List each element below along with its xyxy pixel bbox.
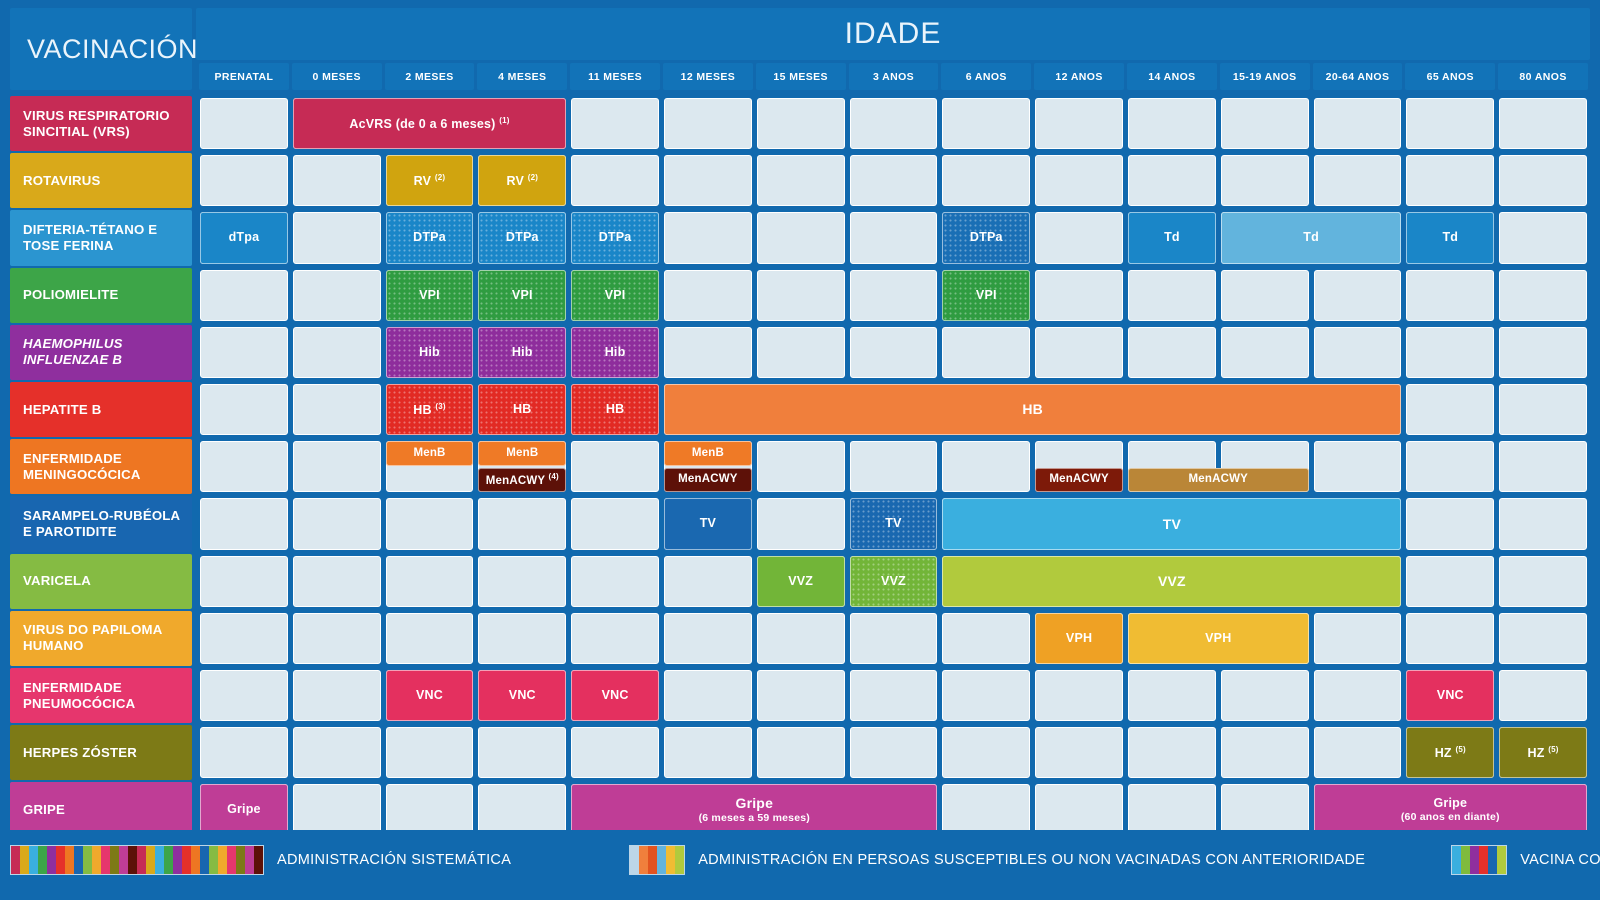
vaccine-block-gripe[interactable]: Gripe [200,784,288,835]
vaccine-block-label: HB [513,402,531,417]
footnote-marker: (5) [1455,745,1465,754]
vaccine-block-rv[interactable]: RV (2) [386,155,474,206]
grid-cell[interactable] [850,670,938,721]
vaccine-block-vnc[interactable]: VNC [1406,670,1494,721]
grid-cell[interactable] [1035,784,1123,835]
vaccine-block-menacwy[interactable]: MenACWY [1035,468,1123,493]
grid-cell[interactable] [850,270,938,321]
vaccine-block-label: HB [606,402,624,417]
footnote-marker: (4) [548,472,558,481]
vaccine-block-acvrs-de-0-a-6-meses-[interactable]: AcVRS (de 0 a 6 meses) (1) [293,98,566,149]
grid-cell[interactable] [664,212,752,263]
vaccine-block-label: DTPa [413,230,446,245]
grid-cell[interactable] [942,327,1030,378]
age-title: IDADE [196,8,1590,60]
legend-item-0: ADMINISTRACIÓN SISTEMÁTICA [10,845,511,875]
column-header-11[interactable]: 15-19 ANOS [1220,63,1310,90]
vaccine-block-label: TV [885,516,901,531]
grid-cell[interactable] [1314,98,1402,149]
schedule-grid: VACINACIÓN IDADE PRENATAL0 MESES2 MESES4… [10,8,1590,820]
vaccine-block-hib[interactable]: Hib [478,327,566,378]
vaccine-block-tv[interactable]: TV [850,498,938,549]
vaccine-block-gripe[interactable]: Gripe(60 anos en diante) [1314,784,1587,835]
grid-cell[interactable] [664,155,752,206]
grid-cell[interactable] [757,613,845,664]
grid-cell[interactable] [1314,441,1402,492]
grid-cell[interactable] [850,327,938,378]
grid-cell[interactable] [1406,155,1494,206]
row-label-4[interactable]: HAEMOPHILUS INFLUENZAE B [10,325,192,380]
grid-cell[interactable] [942,613,1030,664]
grid-cell[interactable] [1499,155,1587,206]
vaccine-block-label: MenB [692,447,724,461]
grid-cell[interactable] [200,270,288,321]
vaccine-block-label: HB (3) [413,402,446,418]
vaccine-block-label: AcVRS (de 0 a 6 meses) (1) [349,116,509,132]
vaccine-block-label: Gripe [227,802,261,817]
grid-cell[interactable] [942,441,1030,492]
grid-cell[interactable] [1499,556,1587,607]
grid-cell[interactable] [386,784,474,835]
grid-cell[interactable] [386,613,474,664]
vaccine-block-menacwy[interactable]: MenACWY [1128,468,1309,493]
grid-cell[interactable] [850,98,938,149]
vaccine-block-label: HZ (5) [1435,745,1466,761]
grid-cell[interactable] [1128,727,1216,778]
grid-cell[interactable] [1406,556,1494,607]
grid-cell[interactable] [1035,270,1123,321]
column-header-3[interactable]: 4 MESES [477,63,567,90]
grid-cell[interactable] [664,670,752,721]
grid-cell[interactable] [850,212,938,263]
vaccine-block-label: VPI [419,288,440,303]
grid-cell[interactable] [200,327,288,378]
vaccine-block-label: DTPa [970,230,1003,245]
column-header-2[interactable]: 2 MESES [385,63,475,90]
grid-cell[interactable] [571,727,659,778]
vaccine-block-label: TV [1163,516,1181,533]
grid-cell[interactable] [664,327,752,378]
vaccine-block-hib[interactable]: Hib [386,327,474,378]
footnote-marker: (5) [1548,745,1558,754]
grid-cell[interactable] [200,98,288,149]
vaccine-block-vph[interactable]: VPH [1128,613,1309,664]
grid-cell[interactable] [757,155,845,206]
vaccine-block-label: MenB [413,447,445,461]
legend: ADMINISTRACIÓN SISTEMÁTICAADMINISTRACIÓN… [10,830,1590,890]
column-header-1[interactable]: 0 MESES [292,63,382,90]
grid-cell[interactable] [1406,98,1494,149]
grid-cell[interactable] [200,441,288,492]
grid-cell[interactable] [293,613,381,664]
grid-cell[interactable] [293,498,381,549]
grid-cell[interactable] [757,670,845,721]
vaccine-block-dtpa[interactable]: DTPa [571,212,659,263]
grid-cell[interactable] [664,727,752,778]
grid-cell[interactable] [1221,327,1309,378]
susceptible-swatch [629,845,685,875]
grid-cell[interactable] [1035,670,1123,721]
vaccine-block-menb[interactable]: MenB [664,441,752,466]
vaccine-block-vpi[interactable]: VPI [942,270,1030,321]
vaccine-block-label: Hib [419,345,440,360]
grid-cell[interactable] [1221,784,1309,835]
vaccine-block-hz[interactable]: HZ (5) [1406,727,1494,778]
vaccine-block-subtext: (6 meses a 59 meses) [699,812,810,825]
column-header-13[interactable]: 65 ANOS [1405,63,1495,90]
grid-cell[interactable] [1406,441,1494,492]
vaccine-block-label: MenACWY [1189,473,1249,487]
vaccine-block-menacwy[interactable]: MenACWY [664,468,752,493]
grid-cell[interactable] [1499,212,1587,263]
grid-cell[interactable] [478,784,566,835]
vaccine-block-label: dTpa [229,230,260,245]
grid-cell[interactable] [200,556,288,607]
vaccine-block-label: VPI [976,288,997,303]
grid-cell[interactable] [1314,613,1402,664]
column-header-5[interactable]: 12 MESES [663,63,753,90]
column-header-10[interactable]: 14 ANOS [1127,63,1217,90]
vaccine-block-label: Hib [605,345,626,360]
grid-cell[interactable] [1035,155,1123,206]
footnote-marker: (2) [435,173,445,182]
vaccine-block-label: VVZ [881,574,906,589]
column-header-7[interactable]: 3 ANOS [849,63,939,90]
grid-cell[interactable] [942,155,1030,206]
grid-cell[interactable] [1499,270,1587,321]
vaccine-block-vnc[interactable]: VNC [478,670,566,721]
grid-cell[interactable] [1499,441,1587,492]
grid-cell[interactable] [1221,270,1309,321]
column-header-14[interactable]: 80 ANOS [1498,63,1588,90]
grid-cell[interactable] [1035,98,1123,149]
grid-cell[interactable] [1035,212,1123,263]
vaccine-block-vvz[interactable]: VVZ [942,556,1401,607]
legend-label: ADMINISTRACIÓN EN PERSOAS SUSCEPTIBLES O… [698,852,1365,868]
systematic-swatch [10,845,264,875]
grid-cell[interactable] [571,155,659,206]
vaccine-block-label: MenACWY [678,473,738,487]
vaccine-block-tv[interactable]: TV [664,498,752,549]
grid-cell[interactable] [293,155,381,206]
vaccine-block-hz[interactable]: HZ (5) [1499,727,1587,778]
row-label-8[interactable]: VARICELA [10,554,192,609]
grid-cell[interactable] [942,98,1030,149]
vaccine-block-label: Td [1303,230,1319,245]
vaccine-block-hb[interactable]: HB [478,384,566,435]
vaccine-block-tv[interactable]: TV [942,498,1401,549]
combined-swatch [1451,845,1507,875]
grid-cell[interactable] [757,327,845,378]
vaccine-block-label: HB [1022,401,1043,418]
vaccine-block-label: MenACWY (4) [486,472,559,489]
vaccine-block-label: DTPa [506,230,539,245]
vaccination-schedule-board: VACINACIÓN IDADE PRENATAL0 MESES2 MESES4… [0,0,1600,900]
vaccine-block-td[interactable]: Td [1406,212,1494,263]
column-header-4[interactable]: 11 MESES [570,63,660,90]
vaccine-block-label: HZ (5) [1528,745,1559,761]
vaccine-block-label: RV (2) [414,173,446,189]
vaccine-block-vpi[interactable]: VPI [386,270,474,321]
footnote-marker: (1) [499,116,509,125]
grid-cell[interactable] [1406,498,1494,549]
grid-cell[interactable] [478,613,566,664]
grid-cell[interactable] [293,212,381,263]
vaccine-block-label: VPI [512,288,533,303]
grid-cell[interactable] [1499,327,1587,378]
vaccine-block-hb[interactable]: HB [664,384,1401,435]
column-header-9[interactable]: 12 ANOS [1034,63,1124,90]
grid-cell[interactable] [1128,270,1216,321]
row-label-0[interactable]: VIRUS RESPIRATORIO SINCITIAL (VRS) [10,96,192,151]
grid-cell[interactable] [757,212,845,263]
grid-cell[interactable] [200,727,288,778]
footnote-marker: (2) [528,173,538,182]
vaccine-block-label: VPH [1205,631,1231,646]
grid-cell[interactable] [478,556,566,607]
vaccine-block-vnc[interactable]: VNC [386,670,474,721]
grid-cell[interactable] [942,727,1030,778]
vaccine-block-dtpa[interactable]: DTPa [942,212,1030,263]
grid-cell[interactable] [1128,327,1216,378]
grid-cell[interactable] [942,784,1030,835]
grid-cell[interactable] [1406,270,1494,321]
vaccine-block-vph[interactable]: VPH [1035,613,1123,664]
grid-cell[interactable] [1499,613,1587,664]
vaccine-block-hib[interactable]: Hib [571,327,659,378]
column-header-8[interactable]: 6 ANOS [941,63,1031,90]
grid-cell[interactable] [1499,384,1587,435]
grid-cell[interactable] [571,613,659,664]
grid-cell[interactable] [1499,498,1587,549]
vaccine-block-vnc[interactable]: VNC [571,670,659,721]
vaccine-block-dtpa[interactable]: DTPa [478,212,566,263]
vaccine-block-label: Td [1164,230,1180,245]
grid-cell[interactable] [757,270,845,321]
grid-cell[interactable] [1314,727,1402,778]
vaccine-block-dtpa[interactable]: dTpa [200,212,288,263]
legend-label: VACINA COMBINADA [1520,852,1600,868]
grid-cell[interactable] [478,498,566,549]
vaccine-block-label: VPH [1066,631,1092,646]
vaccine-block-label: VNC [509,688,536,703]
row-label-11[interactable]: HERPES ZÓSTER [10,725,192,780]
vaccine-block-label: VNC [602,688,629,703]
row-label-5[interactable]: HEPATITE B [10,382,192,437]
vaccine-block-label: VNC [416,688,443,703]
grid-cell[interactable] [386,498,474,549]
grid-cell[interactable] [1128,784,1216,835]
vaccine-block-label: VPI [605,288,626,303]
column-header-0[interactable]: PRENATAL [199,63,289,90]
vaccine-block-label: MenB [506,447,538,461]
grid-cell[interactable] [664,556,752,607]
row-label-1[interactable]: ROTAVIRUS [10,153,192,208]
grid-cell[interactable] [571,556,659,607]
grid-cell[interactable] [293,727,381,778]
grid-cell[interactable] [200,670,288,721]
grid-cell[interactable] [664,270,752,321]
grid-cell[interactable] [757,727,845,778]
legend-label: ADMINISTRACIÓN SISTEMÁTICA [277,852,511,868]
grid-cell[interactable] [200,498,288,549]
grid-cell[interactable] [1314,270,1402,321]
grid-cell[interactable] [293,384,381,435]
vaccine-block-hb[interactable]: HB [571,384,659,435]
grid-cell[interactable] [664,98,752,149]
grid-cell[interactable] [757,98,845,149]
grid-cell[interactable] [293,327,381,378]
vaccine-block-gripe[interactable]: Gripe(6 meses a 59 meses) [571,784,937,835]
grid-cell[interactable] [386,727,474,778]
vaccine-block-label: Gripe(60 anos en diante) [1401,796,1500,824]
grid-cell[interactable] [850,155,938,206]
grid-cell[interactable] [942,670,1030,721]
vaccine-block-vpi[interactable]: VPI [571,270,659,321]
legend-item-2: VACINA COMBINADA [1451,845,1600,875]
grid-cell[interactable] [757,441,845,492]
grid-cell[interactable] [1035,727,1123,778]
grid-cell[interactable] [293,441,381,492]
legend-item-1: ADMINISTRACIÓN EN PERSOAS SUSCEPTIBLES O… [629,845,1365,875]
grid-cell[interactable] [1221,727,1309,778]
vaccine-block-label: VVZ [1158,573,1186,590]
row-label-10[interactable]: ENFERMIDADE PNEUMOCÓCICA [10,668,192,723]
vaccine-block-vvz[interactable]: VVZ [757,556,845,607]
grid-cell[interactable] [664,613,752,664]
vaccine-block-label: VVZ [788,574,813,589]
vaccine-block-menb[interactable]: MenB [386,441,474,466]
vaccine-block-label: TV [700,516,716,531]
vaccine-block-vvz[interactable]: VVZ [850,556,938,607]
grid-cell[interactable] [571,498,659,549]
vaccine-block-td[interactable]: Td [1128,212,1216,263]
grid-cell[interactable] [757,498,845,549]
vaccine-block-menacwy[interactable]: MenACWY (4) [478,468,566,493]
grid-cell[interactable] [571,441,659,492]
grid-cell[interactable] [1499,670,1587,721]
vaccine-block-td[interactable]: Td [1221,212,1402,263]
grid-cell[interactable] [1128,670,1216,721]
grid-cell[interactable] [200,613,288,664]
grid-cell[interactable] [1128,155,1216,206]
vaccine-block-label: Gripe(6 meses a 59 meses) [699,795,810,824]
row-label-7[interactable]: SARAMPELO-RUBÉOLA E PAROTIDITE [10,496,192,551]
vaccine-block-vpi[interactable]: VPI [478,270,566,321]
grid-cell[interactable] [1499,98,1587,149]
grid-cell[interactable] [1314,155,1402,206]
grid-cell[interactable] [1035,327,1123,378]
vaccine-block-label: RV (2) [506,173,538,189]
grid-cell[interactable] [1406,613,1494,664]
grid-cell[interactable] [386,556,474,607]
vaccination-title: VACINACIÓN [10,8,192,90]
vaccine-block-dtpa[interactable]: DTPa [386,212,474,263]
grid-cell[interactable] [1221,155,1309,206]
vaccine-block-label: MenACWY [1049,473,1109,487]
grid-cell[interactable] [850,441,938,492]
grid-cell[interactable] [293,670,381,721]
vaccine-block-subtext: (60 anos en diante) [1401,811,1500,824]
grid-cell[interactable] [1406,384,1494,435]
column-header-12[interactable]: 20-64 ANOS [1313,63,1403,90]
row-label-3[interactable]: POLIOMIELITE [10,268,192,323]
grid-cell[interactable] [1221,670,1309,721]
grid-cell[interactable] [200,384,288,435]
grid-cell[interactable] [478,727,566,778]
grid-cell[interactable] [293,270,381,321]
grid-cell[interactable] [571,98,659,149]
vaccine-block-label: DTPa [599,230,632,245]
vaccine-block-label: VNC [1437,688,1464,703]
grid-cell[interactable] [293,556,381,607]
vaccine-block-label: Hib [512,345,533,360]
vaccine-block-label: Td [1442,230,1458,245]
grid-cell[interactable] [1221,98,1309,149]
vaccine-block-hb[interactable]: HB (3) [386,384,474,435]
grid-cell[interactable] [850,613,938,664]
grid-cell[interactable] [1128,98,1216,149]
footnote-marker: (3) [435,402,445,411]
column-header-6[interactable]: 15 MESES [756,63,846,90]
row-label-2[interactable]: DIFTERIA-TÉTANO E TOSE FERINA [10,210,192,265]
grid-cell[interactable] [1314,327,1402,378]
grid-cell[interactable] [850,727,938,778]
grid-cell[interactable] [1314,670,1402,721]
grid-cell[interactable] [200,155,288,206]
row-label-6[interactable]: ENFERMIDADE MENINGOCÓCICA [10,439,192,494]
grid-cell[interactable] [293,784,381,835]
row-label-9[interactable]: VIRUS DO PAPILOMA HUMANO [10,611,192,666]
vaccine-block-rv[interactable]: RV (2) [478,155,566,206]
vaccine-block-menb[interactable]: MenB [478,441,566,466]
grid-cell[interactable] [1406,327,1494,378]
